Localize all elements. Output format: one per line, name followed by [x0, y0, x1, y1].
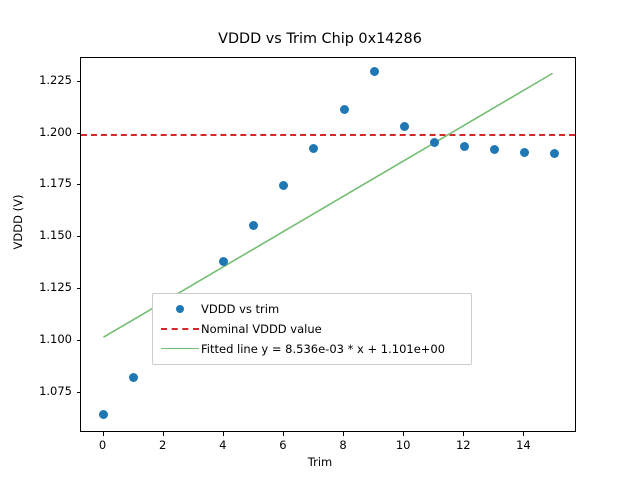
x-tick-label: 0 — [83, 438, 123, 452]
chart-title: VDDD vs Trim Chip 0x14286 — [0, 31, 640, 47]
x-tick-label: 14 — [503, 438, 543, 452]
x-tick-mark — [523, 432, 524, 436]
scatter-point — [340, 105, 349, 114]
y-tick-label: 1.150 — [12, 228, 72, 242]
x-tick-mark — [283, 432, 284, 436]
legend-item[interactable]: Fitted line y = 8.536e-03 * x + 1.101e+0… — [159, 339, 465, 359]
chart-figure: VDDD vs Trim Chip 0x14286 VDDD (V) Trim … — [0, 0, 640, 480]
x-tick-label: 10 — [383, 438, 423, 452]
scatter-point — [99, 410, 108, 419]
x-tick-label: 6 — [263, 438, 303, 452]
x-axis-label: Trim — [0, 455, 640, 469]
plot-clip — [81, 58, 575, 431]
x-tick-mark — [103, 432, 104, 436]
y-tick-label: 1.175 — [12, 176, 72, 190]
legend-handle-glyph — [161, 348, 199, 349]
legend-dashed-line-icon — [159, 320, 201, 338]
x-tick-mark — [403, 432, 404, 436]
x-tick-mark — [223, 432, 224, 436]
chart-legend[interactable]: VDDD vs trimNominal VDDD valueFitted lin… — [152, 293, 472, 365]
x-tick-label: 4 — [203, 438, 243, 452]
fitted-line — [81, 58, 575, 431]
legend-label: Nominal VDDD value — [201, 322, 322, 336]
x-tick-label: 8 — [323, 438, 363, 452]
scatter-point — [520, 148, 529, 157]
scatter-point — [490, 145, 499, 154]
y-tick-label: 1.125 — [12, 280, 72, 294]
scatter-point — [370, 67, 379, 76]
scatter-point — [129, 373, 138, 382]
legend-marker-icon — [159, 300, 201, 318]
x-tick-label: 12 — [443, 438, 483, 452]
x-tick-mark — [343, 432, 344, 436]
x-tick-mark — [163, 432, 164, 436]
x-tick-label: 2 — [143, 438, 183, 452]
y-axis-label: VDDD (V) — [11, 142, 25, 302]
x-tick-mark — [463, 432, 464, 436]
legend-solid-line-icon — [159, 340, 201, 358]
y-tick-label: 1.100 — [12, 332, 72, 346]
legend-label: Fitted line y = 8.536e-03 * x + 1.101e+0… — [201, 342, 445, 356]
y-tick-label: 1.225 — [12, 73, 72, 87]
scatter-point — [460, 142, 469, 151]
legend-item[interactable]: VDDD vs trim — [159, 299, 465, 319]
scatter-point — [430, 138, 439, 147]
plot-area — [80, 57, 576, 432]
y-tick-label: 1.075 — [12, 384, 72, 398]
legend-item[interactable]: Nominal VDDD value — [159, 319, 465, 339]
scatter-point — [400, 122, 409, 131]
legend-label: VDDD vs trim — [201, 302, 279, 316]
y-tick-label: 1.200 — [12, 125, 72, 139]
legend-handle-glyph — [161, 328, 199, 330]
legend-handle-glyph — [176, 305, 184, 313]
